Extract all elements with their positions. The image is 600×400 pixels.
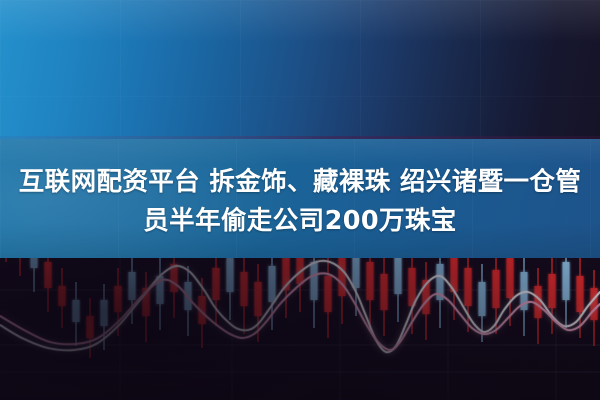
headline-band bbox=[0, 139, 600, 258]
headline-band-scanlines bbox=[0, 139, 600, 258]
top-gradient-scanlines bbox=[0, 0, 600, 139]
top-gradient-overlay bbox=[0, 0, 600, 139]
news-banner: 互联网配资平台 拆金饰、藏裸珠 绍兴诸暨一仓管 员半年偷走公司200万珠宝 bbox=[0, 0, 600, 400]
